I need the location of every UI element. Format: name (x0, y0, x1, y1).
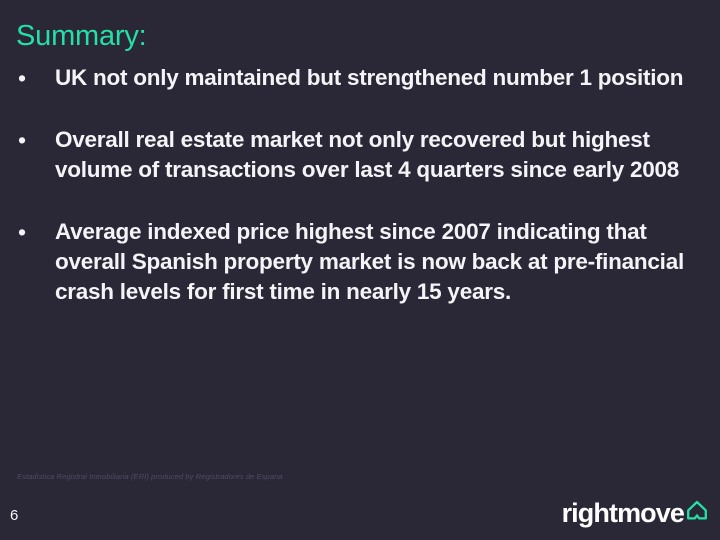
bullet-text: UK not only maintained but strengthened … (55, 65, 699, 90)
list-item: • UK not only maintained but strengthene… (0, 63, 720, 93)
bullet-text: Average indexed price highest since 2007… (55, 219, 684, 304)
list-item: • Average indexed price highest since 20… (0, 217, 720, 307)
logo-wordmark: rightmove (562, 499, 684, 527)
slide-title: Summary: (16, 21, 147, 53)
source-attribution: Estadistica Registral Inmobiliaria (ERI)… (17, 472, 283, 481)
bullet-marker-icon: • (18, 125, 32, 155)
bullet-text: Overall real estate market not only reco… (55, 127, 695, 182)
summary-bullet-list: • UK not only maintained but strengthene… (0, 63, 720, 307)
bullet-marker-icon: • (18, 63, 32, 93)
page-number: 6 (10, 508, 18, 523)
bullet-marker-icon: • (18, 217, 32, 247)
presentation-slide: Summary: • UK not only maintained but st… (0, 0, 720, 540)
house-icon (686, 500, 708, 525)
rightmove-logo: rightmove (562, 499, 708, 529)
list-item: • Overall real estate market not only re… (0, 125, 720, 185)
